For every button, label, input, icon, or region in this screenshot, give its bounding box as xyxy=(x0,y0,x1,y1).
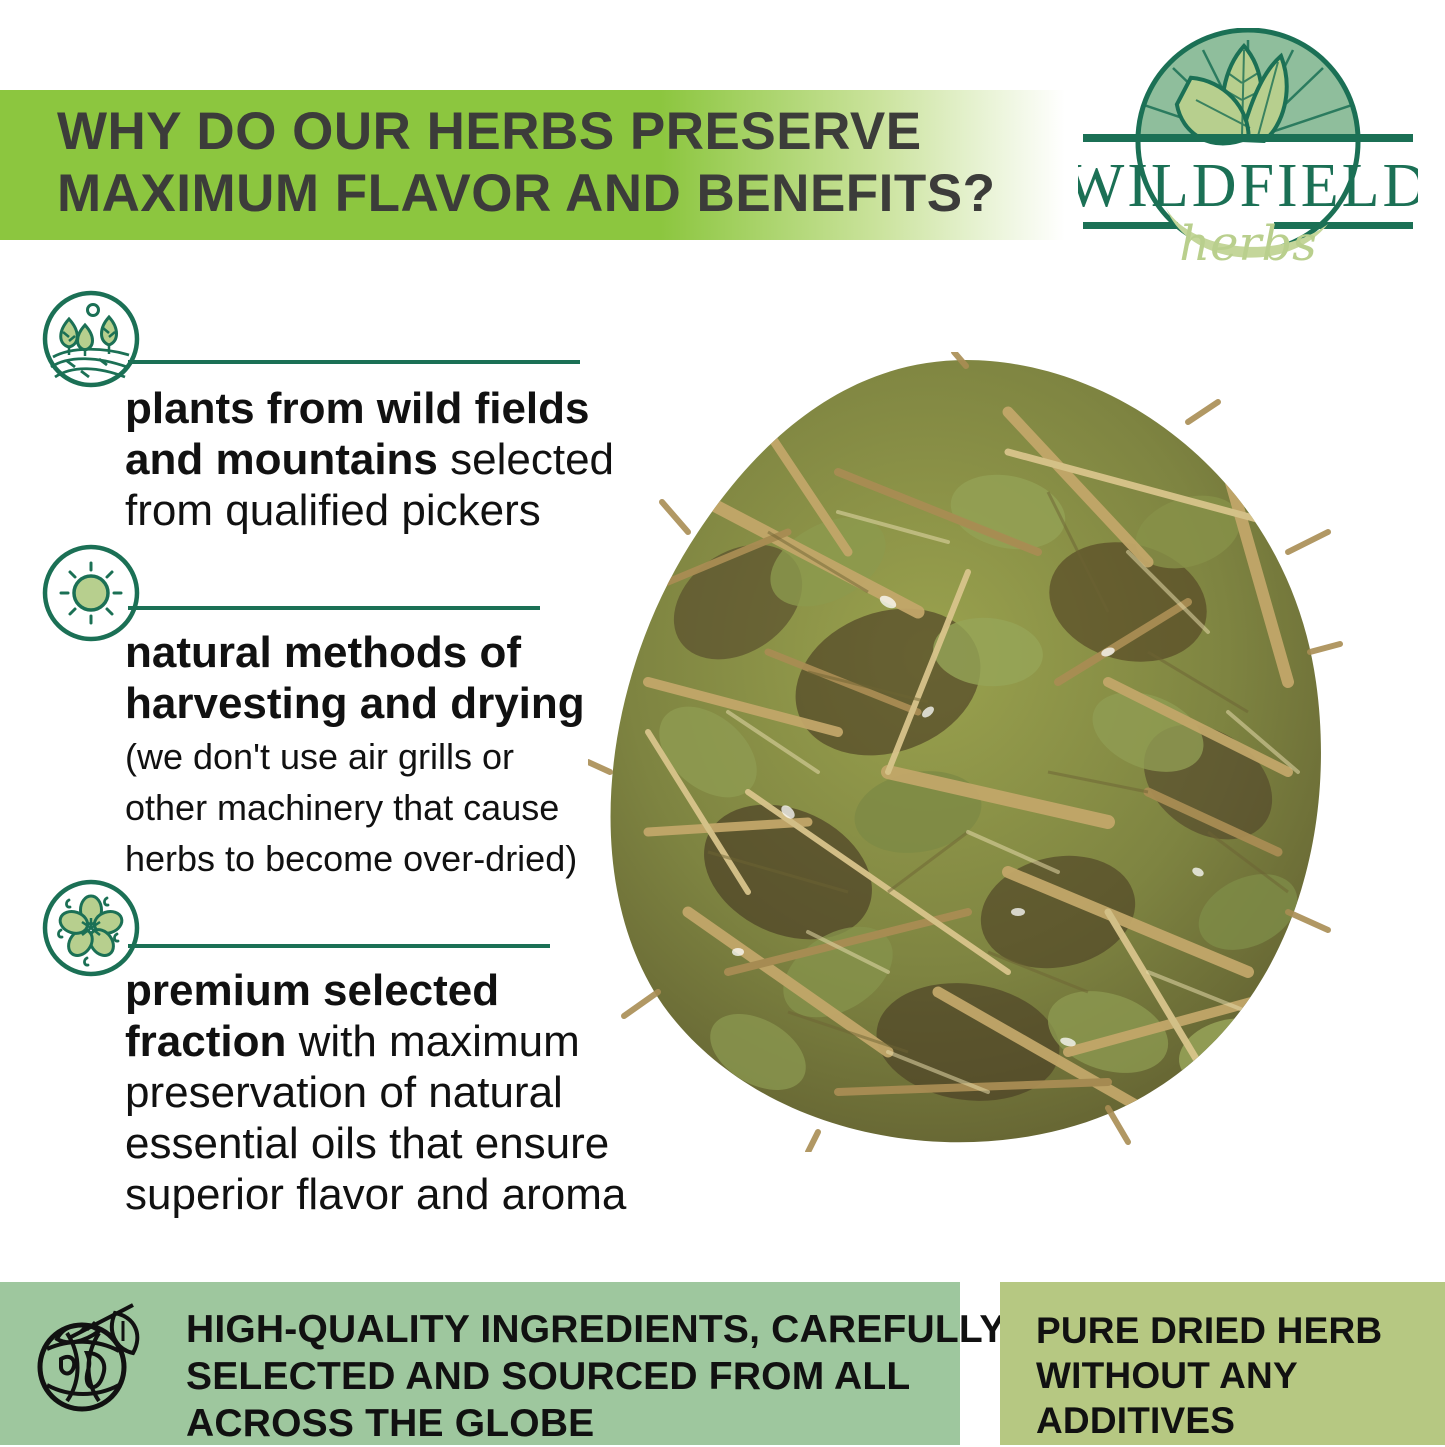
brand-logo: WILDFIELD herbs xyxy=(1078,28,1418,273)
footer-right-line-3: ADDITIVES xyxy=(1036,1398,1436,1443)
footer-right-line-1: PURE DRIED HERB xyxy=(1036,1308,1436,1353)
feature-bold-2: natural methods of harvesting and drying xyxy=(125,628,585,728)
footer-left-line-2: SELECTED AND SOURCED FROM ALL xyxy=(186,1353,946,1400)
dried-herb-pile-photo xyxy=(588,352,1344,1152)
connector-line-1 xyxy=(128,360,580,364)
page-title: WHY DO OUR HERBS PRESERVE MAXIMUM FLAVOR… xyxy=(57,101,1057,225)
connector-line-3 xyxy=(128,944,550,948)
footer-left-line-3: ACROSS THE GLOBE xyxy=(186,1400,946,1447)
page-title-line-1: WHY DO OUR HERBS PRESERVE xyxy=(57,101,1057,163)
feature-text-1: plants from wild fields and mountains se… xyxy=(125,383,625,536)
flower-icon xyxy=(41,878,141,978)
logo-sub-text: herbs xyxy=(1179,216,1317,272)
footer-left-line-1: HIGH-QUALITY INGREDIENTS, CAREFULLY xyxy=(186,1306,946,1353)
feature-regular-2: (we don't use air grills or other machin… xyxy=(125,736,577,879)
logo-brand-text: WILDFIELD xyxy=(1078,152,1418,220)
connector-line-2 xyxy=(128,606,540,610)
footer-left-text: HIGH-QUALITY INGREDIENTS, CAREFULLY SELE… xyxy=(186,1306,946,1447)
footer-right-text: PURE DRIED HERB WITHOUT ANY ADDITIVES xyxy=(1036,1308,1436,1443)
field-trees-icon xyxy=(41,289,141,389)
feature-text-2: natural methods of harvesting and drying… xyxy=(125,627,595,882)
globe-leaf-icon xyxy=(27,1297,155,1417)
footer-right-line-2: WITHOUT ANY xyxy=(1036,1353,1436,1398)
feature-text-3: premium selected fraction with maximum p… xyxy=(125,965,635,1220)
page-title-line-2: MAXIMUM FLAVOR AND BENEFITS? xyxy=(57,163,1057,225)
